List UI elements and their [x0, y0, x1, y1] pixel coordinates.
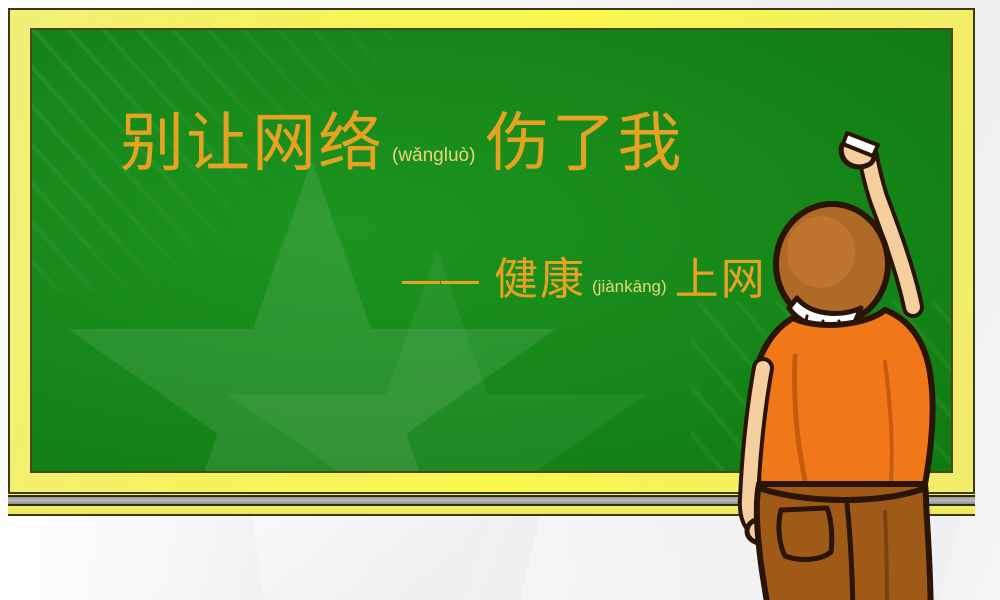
subtitle-part-1-pinyin: (jiànkāng): [592, 277, 667, 297]
page-subtitle: —— 健康 (jiànkāng) 上网: [400, 258, 767, 302]
subtitle-part-1: 健康: [494, 258, 586, 302]
student-illustration: [735, 112, 1000, 600]
title-part-2: 伤了我: [485, 112, 683, 176]
title-part-1-pinyin: (wǎngluò): [392, 145, 475, 167]
slide-canvas: 别让网络 (wǎngluò) 伤了我 —— 健康 (jiànkāng) 上网: [0, 0, 1000, 600]
title-part-1: 别让网络: [120, 112, 384, 176]
subtitle-dash: ——: [400, 259, 478, 301]
